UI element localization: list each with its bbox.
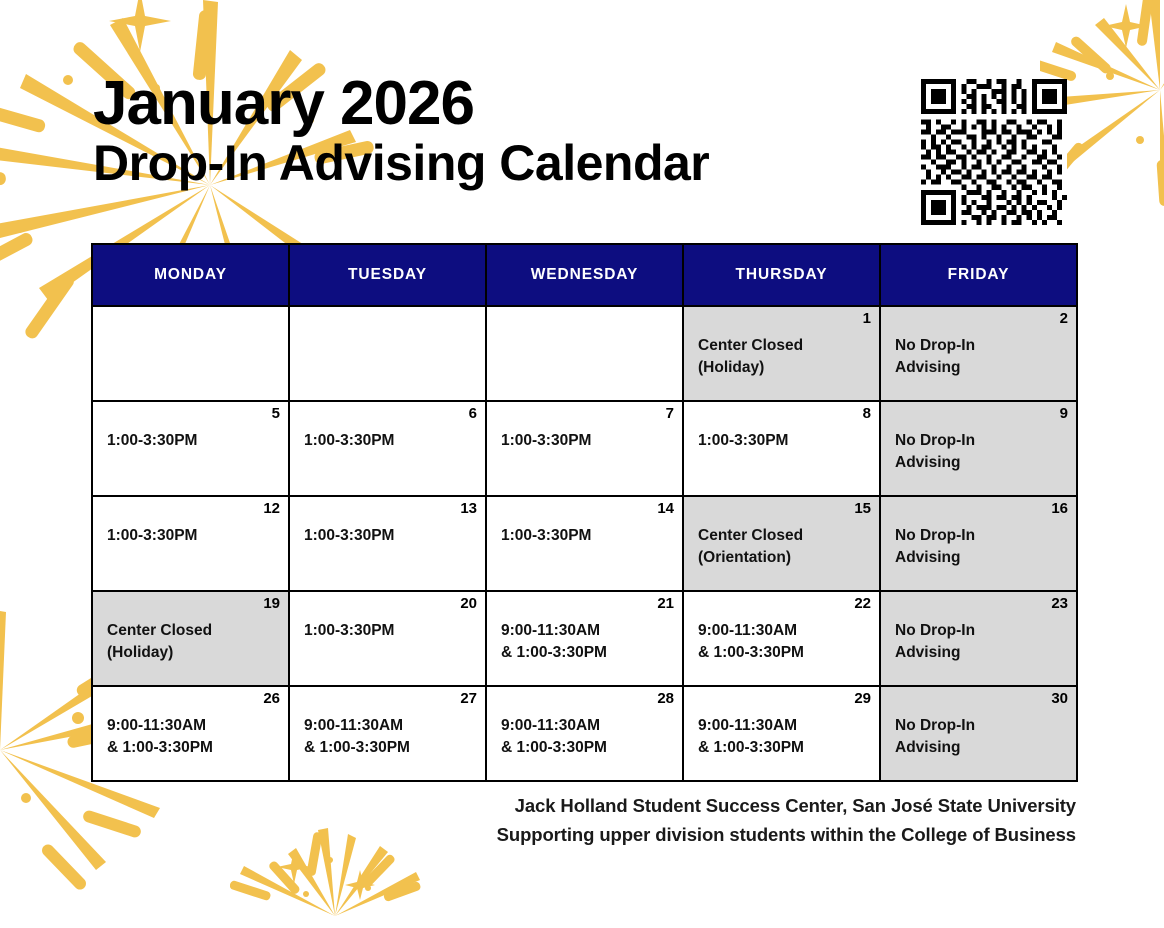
day-detail-text: 9:00-11:30AM& 1:00-3:30PM xyxy=(698,715,871,759)
day-number: 16 xyxy=(895,501,1068,517)
calendar-day-5[interactable]: 51:00-3:30PM xyxy=(92,401,289,496)
calendar-body: 1Center Closed(Holiday)2No Drop-InAdvisi… xyxy=(92,306,1077,781)
day-detail-line-1: 1:00-3:30PM xyxy=(304,527,394,544)
day-detail-text: No Drop-InAdvising xyxy=(895,335,1068,379)
day-detail-line-2: (Holiday) xyxy=(698,357,871,379)
day-detail-line-1: 1:00-3:30PM xyxy=(304,622,394,639)
calendar-header-row: MONDAY TUESDAY WEDNESDAY THURSDAY FRIDAY xyxy=(92,244,1077,306)
calendar-day-20[interactable]: 201:00-3:30PM xyxy=(289,591,486,686)
day-detail-line-1: No Drop-In xyxy=(895,622,975,639)
page-header: January 2026 Drop-In Advising Calendar xyxy=(0,0,1164,238)
day-detail-line-2: Advising xyxy=(895,452,1068,474)
day-number: 26 xyxy=(107,691,280,707)
calendar-day-9[interactable]: 9No Drop-InAdvising xyxy=(880,401,1077,496)
day-number: 1 xyxy=(698,311,871,327)
qr-code-svg xyxy=(921,79,1067,225)
calendar-day-13[interactable]: 131:00-3:30PM xyxy=(289,496,486,591)
day-number: 12 xyxy=(107,501,280,517)
calendar-day-7[interactable]: 71:00-3:30PM xyxy=(486,401,683,496)
day-number: 9 xyxy=(895,406,1068,422)
day-number: 13 xyxy=(304,501,477,517)
day-detail-text: 1:00-3:30PM xyxy=(698,430,871,452)
day-number: 29 xyxy=(698,691,871,707)
day-detail-line-2: Advising xyxy=(895,357,1068,379)
day-detail-text: 1:00-3:30PM xyxy=(304,430,477,452)
calendar-day-28[interactable]: 289:00-11:30AM& 1:00-3:30PM xyxy=(486,686,683,781)
calendar-day-8[interactable]: 81:00-3:30PM xyxy=(683,401,880,496)
day-detail-line-2: (Holiday) xyxy=(107,642,280,664)
day-number: 27 xyxy=(304,691,477,707)
column-header-monday: MONDAY xyxy=(92,244,289,306)
calendar-day-30[interactable]: 30No Drop-InAdvising xyxy=(880,686,1077,781)
title-block: January 2026 Drop-In Advising Calendar xyxy=(93,72,709,190)
day-detail-line-1: 1:00-3:30PM xyxy=(304,432,394,449)
day-number: 8 xyxy=(698,406,871,422)
day-detail-line-1: 9:00-11:30AM xyxy=(698,622,797,639)
day-detail-text: 9:00-11:30AM& 1:00-3:30PM xyxy=(698,620,871,664)
day-number: 2 xyxy=(895,311,1068,327)
day-detail-text: 9:00-11:30AM& 1:00-3:30PM xyxy=(304,715,477,759)
day-detail-text: 1:00-3:30PM xyxy=(304,525,477,547)
day-detail-text: 1:00-3:30PM xyxy=(501,525,674,547)
calendar-cell-empty xyxy=(486,306,683,401)
day-number: 30 xyxy=(895,691,1068,707)
day-detail-line-1: No Drop-In xyxy=(895,717,975,734)
calendar-day-14[interactable]: 141:00-3:30PM xyxy=(486,496,683,591)
calendar-day-26[interactable]: 269:00-11:30AM& 1:00-3:30PM xyxy=(92,686,289,781)
calendar-week-row: 19Center Closed(Holiday)201:00-3:30PM219… xyxy=(92,591,1077,686)
calendar-cell-empty xyxy=(92,306,289,401)
footer-line-1: Jack Holland Student Success Center, San… xyxy=(0,792,1076,821)
calendar-day-22[interactable]: 229:00-11:30AM& 1:00-3:30PM xyxy=(683,591,880,686)
calendar-day-16[interactable]: 16No Drop-InAdvising xyxy=(880,496,1077,591)
calendar-day-21[interactable]: 219:00-11:30AM& 1:00-3:30PM xyxy=(486,591,683,686)
calendar-week-row: 51:00-3:30PM61:00-3:30PM71:00-3:30PM81:0… xyxy=(92,401,1077,496)
day-number: 19 xyxy=(107,596,280,612)
day-detail-text: No Drop-InAdvising xyxy=(895,620,1068,664)
day-detail-text: No Drop-InAdvising xyxy=(895,525,1068,569)
day-detail-line-1: 9:00-11:30AM xyxy=(304,717,403,734)
calendar-week-row: 1Center Closed(Holiday)2No Drop-InAdvisi… xyxy=(92,306,1077,401)
day-detail-line-1: 1:00-3:30PM xyxy=(501,432,591,449)
day-detail-line-1: Center Closed xyxy=(698,337,803,354)
day-number: 14 xyxy=(501,501,674,517)
day-detail-line-2: & 1:00-3:30PM xyxy=(698,737,871,759)
day-detail-text: No Drop-InAdvising xyxy=(895,715,1068,759)
day-detail-text: 1:00-3:30PM xyxy=(304,620,477,642)
column-header-tuesday: TUESDAY xyxy=(289,244,486,306)
day-number: 7 xyxy=(501,406,674,422)
page-subtitle: Drop-In Advising Calendar xyxy=(93,137,709,190)
day-detail-line-1: No Drop-In xyxy=(895,432,975,449)
day-detail-line-2: & 1:00-3:30PM xyxy=(698,642,871,664)
day-number: 20 xyxy=(304,596,477,612)
day-detail-text: Center Closed(Holiday) xyxy=(698,335,871,379)
day-detail-line-2: & 1:00-3:30PM xyxy=(107,737,280,759)
day-detail-line-1: 9:00-11:30AM xyxy=(501,717,600,734)
qr-code-icon[interactable] xyxy=(921,79,1067,225)
day-number: 22 xyxy=(698,596,871,612)
day-detail-text: Center Closed(Holiday) xyxy=(107,620,280,664)
day-detail-line-2: & 1:00-3:30PM xyxy=(501,642,674,664)
calendar-week-row: 269:00-11:30AM& 1:00-3:30PM279:00-11:30A… xyxy=(92,686,1077,781)
day-number: 28 xyxy=(501,691,674,707)
day-detail-line-1: 1:00-3:30PM xyxy=(698,432,788,449)
calendar-day-1[interactable]: 1Center Closed(Holiday) xyxy=(683,306,880,401)
day-detail-text: 9:00-11:30AM& 1:00-3:30PM xyxy=(107,715,280,759)
day-detail-line-1: 9:00-11:30AM xyxy=(107,717,206,734)
day-detail-line-1: 1:00-3:30PM xyxy=(501,527,591,544)
day-detail-line-2: Advising xyxy=(895,642,1068,664)
calendar-cell-empty xyxy=(289,306,486,401)
day-detail-text: 1:00-3:30PM xyxy=(501,430,674,452)
day-detail-text: 1:00-3:30PM xyxy=(107,430,280,452)
calendar-day-23[interactable]: 23No Drop-InAdvising xyxy=(880,591,1077,686)
calendar-day-2[interactable]: 2No Drop-InAdvising xyxy=(880,306,1077,401)
page-title: January 2026 xyxy=(93,72,709,135)
day-detail-text: 1:00-3:30PM xyxy=(107,525,280,547)
footer: Jack Holland Student Success Center, San… xyxy=(0,792,1076,849)
day-detail-line-2: (Orientation) xyxy=(698,547,871,569)
calendar-day-29[interactable]: 299:00-11:30AM& 1:00-3:30PM xyxy=(683,686,880,781)
day-detail-line-1: No Drop-In xyxy=(895,337,975,354)
calendar-day-15[interactable]: 15Center Closed(Orientation) xyxy=(683,496,880,591)
day-detail-line-2: Advising xyxy=(895,737,1068,759)
calendar-day-6[interactable]: 61:00-3:30PM xyxy=(289,401,486,496)
day-number: 21 xyxy=(501,596,674,612)
day-detail-line-1: Center Closed xyxy=(698,527,803,544)
day-detail-line-2: & 1:00-3:30PM xyxy=(304,737,477,759)
column-header-friday: FRIDAY xyxy=(880,244,1077,306)
day-detail-line-1: 1:00-3:30PM xyxy=(107,527,197,544)
day-number: 15 xyxy=(698,501,871,517)
footer-line-2: Supporting upper division students withi… xyxy=(0,821,1076,850)
day-number: 23 xyxy=(895,596,1068,612)
calendar-week-row: 121:00-3:30PM131:00-3:30PM141:00-3:30PM1… xyxy=(92,496,1077,591)
day-detail-line-2: & 1:00-3:30PM xyxy=(501,737,674,759)
day-detail-line-1: 9:00-11:30AM xyxy=(501,622,600,639)
drop-in-advising-calendar: MONDAY TUESDAY WEDNESDAY THURSDAY FRIDAY… xyxy=(91,243,1078,782)
day-detail-text: Center Closed(Orientation) xyxy=(698,525,871,569)
calendar-day-27[interactable]: 279:00-11:30AM& 1:00-3:30PM xyxy=(289,686,486,781)
column-header-thursday: THURSDAY xyxy=(683,244,880,306)
calendar-day-19[interactable]: 19Center Closed(Holiday) xyxy=(92,591,289,686)
day-detail-line-1: 1:00-3:30PM xyxy=(107,432,197,449)
day-detail-text: No Drop-InAdvising xyxy=(895,430,1068,474)
calendar-day-12[interactable]: 121:00-3:30PM xyxy=(92,496,289,591)
day-detail-line-1: 9:00-11:30AM xyxy=(698,717,797,734)
day-detail-line-1: No Drop-In xyxy=(895,527,975,544)
day-detail-line-2: Advising xyxy=(895,547,1068,569)
day-detail-line-1: Center Closed xyxy=(107,622,212,639)
day-detail-text: 9:00-11:30AM& 1:00-3:30PM xyxy=(501,715,674,759)
day-number: 5 xyxy=(107,406,280,422)
column-header-wednesday: WEDNESDAY xyxy=(486,244,683,306)
day-number: 6 xyxy=(304,406,477,422)
day-detail-text: 9:00-11:30AM& 1:00-3:30PM xyxy=(501,620,674,664)
